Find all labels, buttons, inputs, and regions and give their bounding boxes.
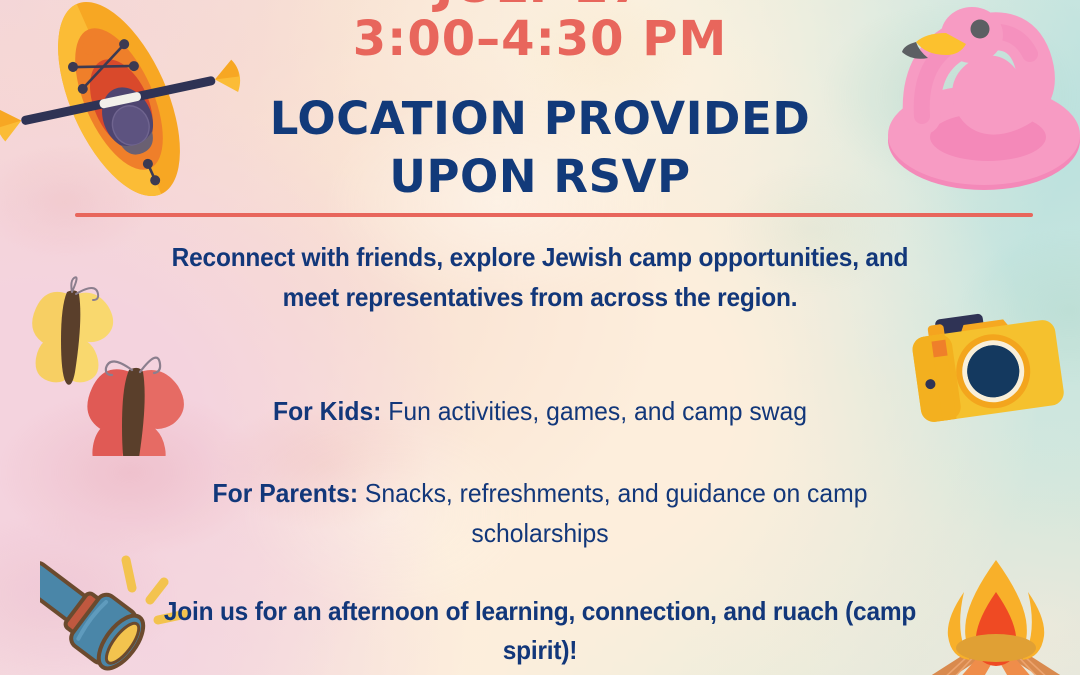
event-flyer: JULY 27 3:00–4:30 PM LOCATION PROVIDED U… bbox=[0, 0, 1080, 675]
for-kids-text: Fun activities, games, and camp swag bbox=[381, 396, 807, 426]
for-kids-label: For Kids: bbox=[273, 396, 381, 426]
for-parents-text: Snacks, refreshments, and guidance on ca… bbox=[358, 478, 867, 548]
flyer-text-content: JULY 27 3:00–4:30 PM LOCATION PROVIDED U… bbox=[0, 0, 1080, 675]
closing-paragraph: Join us for an afternoon of learning, co… bbox=[155, 592, 926, 670]
intro-paragraph: Reconnect with friends, explore Jewish c… bbox=[155, 238, 926, 317]
location-line-2: UPON RSVP bbox=[0, 154, 1080, 200]
for-parents-label: For Parents: bbox=[213, 478, 358, 508]
divider-rule bbox=[75, 213, 1033, 217]
event-time: 3:00–4:30 PM bbox=[0, 15, 1080, 65]
for-kids-line: For Kids: Fun activities, games, and cam… bbox=[151, 392, 930, 431]
for-parents-line: For Parents: Snacks, refreshments, and g… bbox=[151, 474, 930, 553]
location-line-1: LOCATION PROVIDED bbox=[0, 96, 1080, 142]
